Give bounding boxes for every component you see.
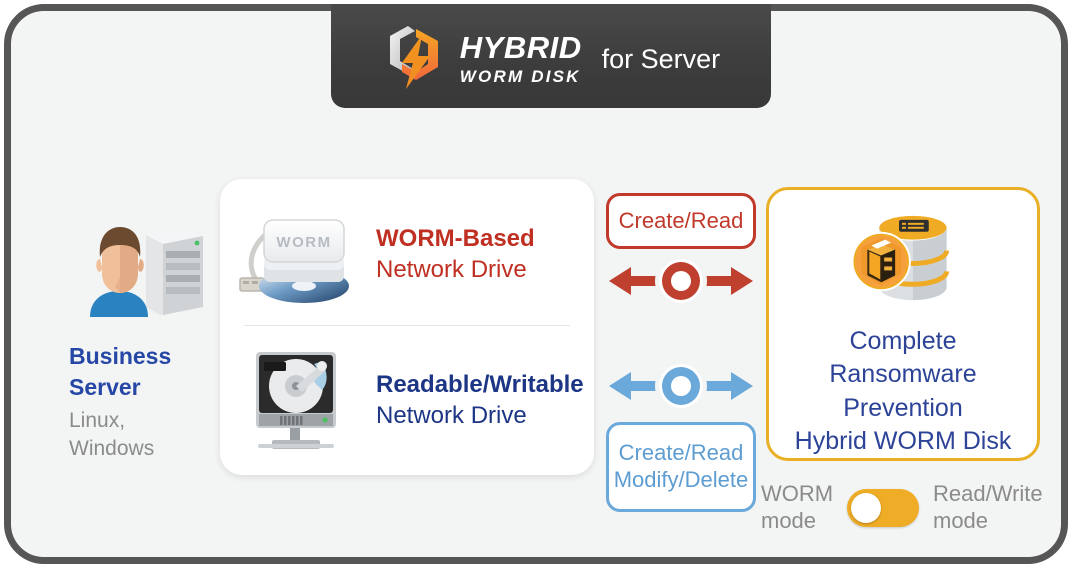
result-line1: Complete [795, 325, 1012, 358]
readwrite-mode-label-line1: Read/Write [933, 481, 1043, 508]
hard-disk-drive-icon [234, 340, 364, 460]
result-text: Complete Ransomware Prevention Hybrid WO… [795, 325, 1012, 458]
result-line3: Prevention [795, 392, 1012, 425]
worm-mode-label-line1: WORM [761, 481, 839, 508]
banner-suffix: for Server [602, 44, 721, 75]
readwrite-mode-label: Read/Write mode [933, 481, 1043, 535]
brand-line1: HYBRID [460, 32, 582, 63]
diagram-frame: HYBRID WORM DISK for Server Busines [4, 4, 1068, 564]
drive-row-readwrite: Readable/Writable Network Drive [220, 327, 594, 473]
drive-label-worm-line2: Network Drive [376, 254, 535, 285]
drive-label-readwrite-line1: Readable/Writable [376, 369, 584, 400]
business-server-title-line1: Business [69, 341, 171, 372]
worm-mode-label-line2: mode [761, 508, 839, 535]
database-archive-box-icon [841, 206, 965, 313]
header-banner: HYBRID WORM DISK for Server [331, 4, 771, 108]
mode-toggle-switch[interactable] [847, 489, 919, 527]
double-headed-arrow-red-icon [605, 251, 757, 311]
brand-lockup: HYBRID WORM DISK [460, 32, 582, 85]
flow-arrow-readwrite [605, 356, 757, 416]
worm-mode-label: WORM mode [761, 481, 839, 535]
flow-tag-create-read: Create/Read [606, 193, 756, 249]
business-server-subtitle: Linux, Windows [55, 407, 154, 464]
business-server-os-line1: Linux, [69, 407, 154, 435]
business-server-block: Business Server Linux, Windows [55, 215, 215, 464]
flow-tag-rw-line2: Modify/Delete [614, 467, 749, 494]
drive-label-worm: WORM-Based Network Drive [376, 223, 535, 285]
result-line4: Hybrid WORM Disk [795, 425, 1012, 458]
mode-toggle-knob[interactable] [851, 493, 881, 523]
flow-tag-create-read-line1: Create/Read [619, 208, 744, 235]
result-panel: Complete Ransomware Prevention Hybrid WO… [766, 187, 1040, 461]
readwrite-mode-label-line2: mode [933, 508, 1043, 535]
drive-row-worm: WORM WORM-Based Network Drive [220, 181, 594, 327]
business-server-user-icon [60, 215, 210, 325]
flow-tag-create-read-modify-delete: Create/Read Modify/Delete [606, 422, 756, 512]
svg-text:WORM: WORM [276, 234, 331, 251]
business-server-os-line2: Windows [69, 435, 154, 463]
flow-tag-rw-line1: Create/Read [619, 440, 744, 467]
business-server-title: Business Server [55, 341, 171, 403]
network-drive-card: WORM WORM-Based Network Drive [220, 179, 594, 475]
result-line2: Ransomware [795, 358, 1012, 391]
business-server-title-line2: Server [69, 372, 171, 403]
drive-label-worm-line1: WORM-Based [376, 223, 535, 254]
flow-arrow-worm [605, 251, 757, 311]
brand-line2: WORM DISK [460, 68, 582, 85]
hybrid-hexagon-bolt-logo [382, 23, 446, 93]
double-headed-arrow-blue-icon [605, 356, 757, 416]
worm-optical-drive-icon: WORM [234, 194, 364, 314]
mode-toggle-legend: WORM mode Read/Write mode [761, 477, 1061, 539]
drive-label-readwrite: Readable/Writable Network Drive [376, 369, 584, 431]
drive-label-readwrite-line2: Network Drive [376, 400, 584, 431]
